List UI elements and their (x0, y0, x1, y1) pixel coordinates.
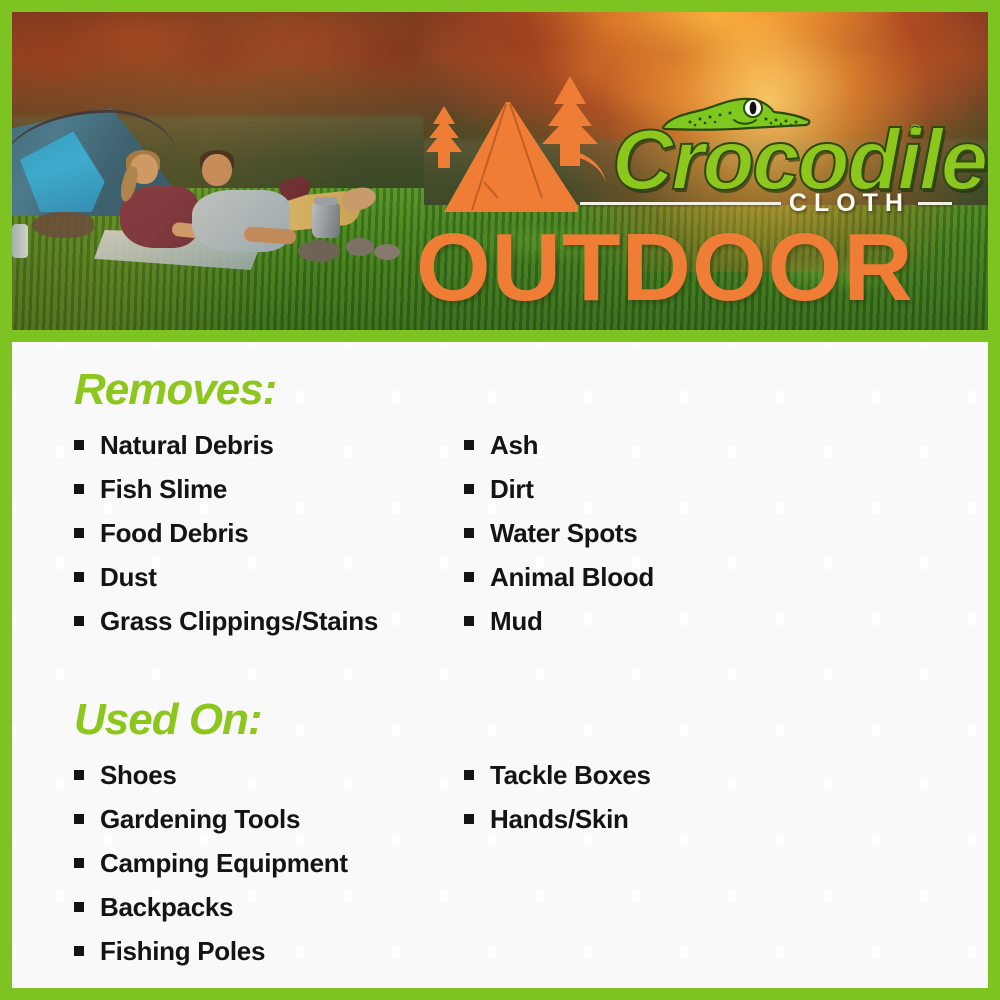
removes-list-right: Ash Dirt Water Spots Animal Blood Mud (464, 432, 884, 634)
list-item: Ash (464, 432, 884, 458)
bullet-square-icon (464, 440, 474, 450)
list-item-label: Mud (490, 608, 543, 634)
bullet-square-icon (74, 440, 84, 450)
divider-line-right (918, 202, 952, 205)
list-item: Gardening Tools (74, 806, 464, 832)
list-item-label: Dirt (490, 476, 534, 502)
bullet-square-icon (74, 572, 84, 582)
list-item-label: Animal Blood (490, 564, 654, 590)
list-item-label: Fishing Poles (100, 938, 265, 964)
bullet-square-icon (464, 572, 474, 582)
list-item-label: Hands/Skin (490, 806, 629, 832)
bullet-square-icon (74, 946, 84, 956)
list-item: Animal Blood (464, 564, 884, 590)
list-item: Water Spots (464, 520, 884, 546)
used-on-list-right: Tackle Boxes Hands/Skin (464, 762, 884, 832)
campfire-rock (346, 238, 374, 256)
list-item: Fish Slime (74, 476, 464, 502)
list-item-label: Shoes (100, 762, 177, 788)
list-item: Backpacks (74, 894, 464, 920)
campfire-rock (374, 244, 400, 260)
list-item-label: Water Spots (490, 520, 637, 546)
registered-trademark-icon: ® (910, 122, 921, 139)
person-man-head (202, 154, 232, 186)
removes-columns: Natural Debris Fish Slime Food Debris Du… (74, 432, 988, 652)
bullet-square-icon (74, 770, 84, 780)
bullet-square-icon (74, 528, 84, 538)
list-item: Dust (74, 564, 464, 590)
list-item-label: Tackle Boxes (490, 762, 651, 788)
list-item: Mud (464, 608, 884, 634)
header-banner: Crocodile ® CLOTH OUTDOOR (12, 12, 988, 330)
list-item-label: Grass Clippings/Stains (100, 608, 378, 634)
water-bottle (12, 224, 28, 258)
used-on-list-left: Shoes Gardening Tools Camping Equipment … (74, 762, 464, 964)
list-item: Hands/Skin (464, 806, 884, 832)
list-item-label: Dust (100, 564, 157, 590)
used-on-columns: Shoes Gardening Tools Camping Equipment … (74, 762, 988, 982)
list-item: Dirt (464, 476, 884, 502)
bullet-square-icon (464, 770, 474, 780)
guitar (32, 212, 94, 238)
section-title-used-on: Used On: (74, 698, 988, 742)
bullet-square-icon (74, 616, 84, 626)
list-item-label: Camping Equipment (100, 850, 348, 876)
list-item: Food Debris (74, 520, 464, 546)
list-item: Natural Debris (74, 432, 464, 458)
brand-subtitle-row: CLOTH (580, 190, 952, 216)
list-item-label: Food Debris (100, 520, 248, 546)
bullet-square-icon (464, 484, 474, 494)
camping-photo (12, 12, 424, 330)
used-on-column-right: Tackle Boxes Hands/Skin (464, 762, 884, 982)
lists-container: Removes: Natural Debris Fish Slime Food … (12, 342, 988, 982)
content-card: Removes: Natural Debris Fish Slime Food … (12, 342, 988, 988)
section-title-removes: Removes: (74, 368, 988, 412)
bullet-square-icon (464, 528, 474, 538)
divider-line-left (580, 202, 781, 205)
bullet-square-icon (74, 484, 84, 494)
list-item: Grass Clippings/Stains (74, 608, 464, 634)
product-infographic: Crocodile ® CLOTH OUTDOOR (0, 0, 1000, 1000)
brand-lockup: Crocodile ® CLOTH (612, 94, 952, 224)
bullet-square-icon (74, 858, 84, 868)
list-item: Fishing Poles (74, 938, 464, 964)
removes-list-left: Natural Debris Fish Slime Food Debris Du… (74, 432, 464, 634)
product-line-title: OUTDOOR (416, 220, 914, 316)
list-item: Tackle Boxes (464, 762, 884, 788)
removes-column-left: Natural Debris Fish Slime Food Debris Du… (74, 432, 464, 652)
bullet-square-icon (74, 902, 84, 912)
list-item: Shoes (74, 762, 464, 788)
bullet-square-icon (464, 814, 474, 824)
list-item-label: Ash (490, 432, 538, 458)
campfire-rock (298, 240, 340, 262)
list-item-label: Backpacks (100, 894, 233, 920)
list-item-label: Fish Slime (100, 476, 227, 502)
list-item: Camping Equipment (74, 850, 464, 876)
list-item-label: Gardening Tools (100, 806, 300, 832)
list-item-label: Natural Debris (100, 432, 274, 458)
used-on-column-left: Shoes Gardening Tools Camping Equipment … (74, 762, 464, 982)
camp-kettle (312, 202, 340, 238)
bullet-square-icon (464, 616, 474, 626)
removes-column-right: Ash Dirt Water Spots Animal Blood Mud (464, 432, 884, 652)
bullet-square-icon (74, 814, 84, 824)
